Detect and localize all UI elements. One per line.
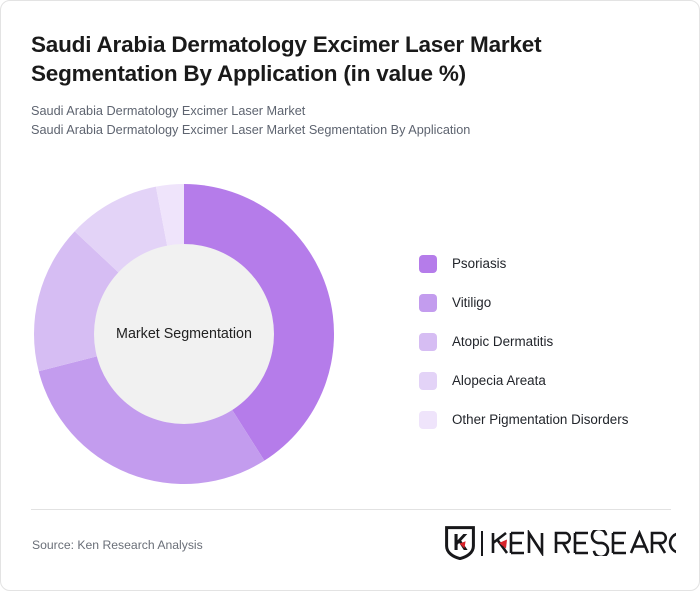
- legend-item[interactable]: Alopecia Areata: [419, 361, 681, 400]
- chart-header: Saudi Arabia Dermatology Excimer Laser M…: [31, 31, 661, 141]
- logo-divider: [481, 531, 483, 556]
- legend-swatch: [419, 255, 437, 273]
- donut-chart: Market Segmentation: [34, 184, 334, 484]
- legend-swatch: [419, 294, 437, 312]
- legend-label: Alopecia Areata: [452, 373, 546, 388]
- subtitle-market: Saudi Arabia Dermatology Excimer Laser M…: [31, 102, 661, 122]
- legend-swatch: [419, 372, 437, 390]
- legend-label: Psoriasis: [452, 256, 506, 271]
- legend-item[interactable]: Vitiligo: [419, 283, 681, 322]
- ken-research-wordmark: [490, 530, 676, 556]
- chart-legend: PsoriasisVitiligoAtopic DermatitisAlopec…: [419, 244, 681, 439]
- donut-chart-svg: [34, 184, 334, 484]
- legend-item[interactable]: Atopic Dermatitis: [419, 322, 681, 361]
- legend-label: Vitiligo: [452, 295, 491, 310]
- donut-hole: [94, 244, 274, 424]
- legend-label: Other Pigmentation Disorders: [452, 412, 628, 427]
- chart-card: Saudi Arabia Dermatology Excimer Laser M…: [0, 0, 700, 591]
- footer-divider: [31, 509, 671, 510]
- legend-swatch: [419, 333, 437, 351]
- legend-swatch: [419, 411, 437, 429]
- legend-item[interactable]: Other Pigmentation Disorders: [419, 400, 681, 439]
- subtitle-group: Saudi Arabia Dermatology Excimer Laser M…: [31, 102, 661, 141]
- subtitle-segmentation: Saudi Arabia Dermatology Excimer Laser M…: [31, 121, 661, 141]
- legend-item[interactable]: Psoriasis: [419, 244, 681, 283]
- page-title: Saudi Arabia Dermatology Excimer Laser M…: [31, 31, 661, 89]
- legend-label: Atopic Dermatitis: [452, 334, 553, 349]
- ken-shield-icon: [445, 526, 475, 560]
- source-note: Source: Ken Research Analysis: [32, 538, 203, 552]
- ken-research-logo: [445, 525, 676, 561]
